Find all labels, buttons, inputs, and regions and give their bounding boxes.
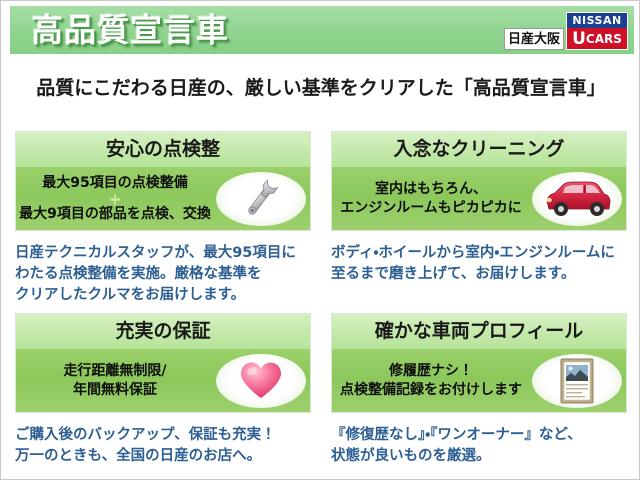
ucars-cars-letters: CARS [586, 32, 622, 46]
caption-line: 状態が良いものを厳選。 [331, 446, 627, 467]
wrench-icon [212, 167, 310, 231]
panel-line-2: 最大9項目の部品を点検、交換 [19, 205, 211, 224]
feature-grid: 安心の点検整 最大95項目の点検整備 + 最大9項目の部品を点検、交換 [15, 131, 627, 471]
nissan-wordmark: NISSAN [567, 13, 627, 28]
panel-title: 確かな車両プロフィール [332, 314, 626, 349]
feature-panel: 入念なクリーニング 室内はもちろん、 エンジンルームもピカピカに [331, 131, 627, 231]
red-car-icon [528, 167, 626, 231]
plus-separator: + [109, 193, 122, 205]
feature-panel: 充実の保証 走行距離無制限/ 年間無料保証 [15, 313, 311, 413]
icon-box [528, 167, 626, 231]
panel-body: 修履歴ナシ！ 点検整備記録をお付けします [332, 349, 626, 413]
caption-line: クリアしたクルマをお届けします。 [15, 285, 311, 306]
feature-cell-warranty: 充実の保証 走行距離無制限/ 年間無料保証 [15, 313, 311, 467]
feature-cell-profile: 確かな車両プロフィール 修履歴ナシ！ 点検整備記録をお付けします [331, 313, 627, 467]
caption-line: 至るまで磨き上げて、お届けします。 [331, 264, 627, 285]
panel-text: 室内はもちろん、 エンジンルームもピカピカに [332, 167, 530, 231]
nissan-ucars-logo: NISSAN UCARS [566, 12, 628, 50]
panel-body: 最大95項目の点検整備 + 最大9項目の部品を点検、交換 [16, 167, 310, 231]
caption-line: ボディ・ホイールから室内・エンジンルームに [331, 243, 627, 264]
document-icon [528, 349, 626, 413]
caption-line: 日産テクニカルスタッフが、最大95項目に [15, 243, 311, 264]
ucars-u-letter: U [572, 29, 586, 49]
promo-page: 高品質宣言車 日産大阪 NISSAN UCARS 品質にこだわる日産の、厳しい基… [0, 0, 640, 480]
panel-line-1: 走行距離無制限/ [63, 362, 166, 381]
subtitle: 品質にこだわる日産の、厳しい基準をクリアした「高品質宣言車」 [1, 73, 640, 100]
caption-line: 『修復歴なし』・『ワンオーナー』など、 [331, 425, 627, 446]
feature-panel: 確かな車両プロフィール 修履歴ナシ！ 点検整備記録をお付けします [331, 313, 627, 413]
panel-caption: 『修復歴なし』・『ワンオーナー』など、 状態が良いものを厳選。 [331, 425, 627, 467]
caption-line: 万一のときも、全国の日産のお店へ。 [15, 446, 311, 467]
panel-caption: 日産テクニカルスタッフが、最大95項目に わたる点検整備を実施。厳格な基準を ク… [15, 243, 311, 306]
panel-line-2: 点検整備記録をお付けします [340, 381, 522, 400]
panel-body: 走行距離無制限/ 年間無料保証 [16, 349, 310, 413]
panel-title: 入念なクリーニング [332, 132, 626, 167]
panel-text: 最大95項目の点検整備 + 最大9項目の部品を点検、交換 [16, 167, 214, 231]
panel-caption: ボディ・ホイールから室内・エンジンルームに 至るまで磨き上げて、お届けします。 [331, 243, 627, 285]
dealer-name-badge: 日産大阪 [504, 28, 564, 50]
heart-icon [212, 349, 310, 413]
panel-text: 走行距離無制限/ 年間無料保証 [16, 349, 214, 413]
caption-line: ご購入後のバックアップ、保証も充実！ [15, 425, 311, 446]
panel-caption: ご購入後のバックアップ、保証も充実！ 万一のときも、全国の日産のお店へ。 [15, 425, 311, 467]
feature-cell-inspection: 安心の点検整 最大95項目の点検整備 + 最大9項目の部品を点検、交換 [15, 131, 311, 306]
panel-line-1: 室内はもちろん、 [375, 180, 487, 199]
icon-box [212, 167, 310, 231]
panel-body: 室内はもちろん、 エンジンルームもピカピカに [332, 167, 626, 231]
panel-line-1: 修履歴ナシ！ [389, 362, 473, 381]
ucars-wordmark: UCARS [567, 28, 627, 49]
feature-panel: 安心の点検整 最大95項目の点検整備 + 最大9項目の部品を点検、交換 [15, 131, 311, 231]
panel-line-2: エンジンルームもピカピカに [340, 199, 522, 218]
header-bar: 高品質宣言車 日産大阪 NISSAN UCARS [10, 6, 634, 54]
feature-cell-cleaning: 入念なクリーニング 室内はもちろん、 エンジンルームもピカピカに [331, 131, 627, 285]
caption-line: わたる点検整備を実施。厳格な基準を [15, 264, 311, 285]
panel-title: 安心の点検整 [16, 132, 310, 167]
panel-text: 修履歴ナシ！ 点検整備記録をお付けします [332, 349, 530, 413]
brand-block: 日産大阪 NISSAN UCARS [504, 8, 628, 52]
icon-box [212, 349, 310, 413]
icon-box [528, 349, 626, 413]
page-title: 高品質宣言車 [31, 9, 229, 51]
panel-title: 充実の保証 [16, 314, 310, 349]
panel-line-2: 年間無料保証 [73, 381, 157, 400]
